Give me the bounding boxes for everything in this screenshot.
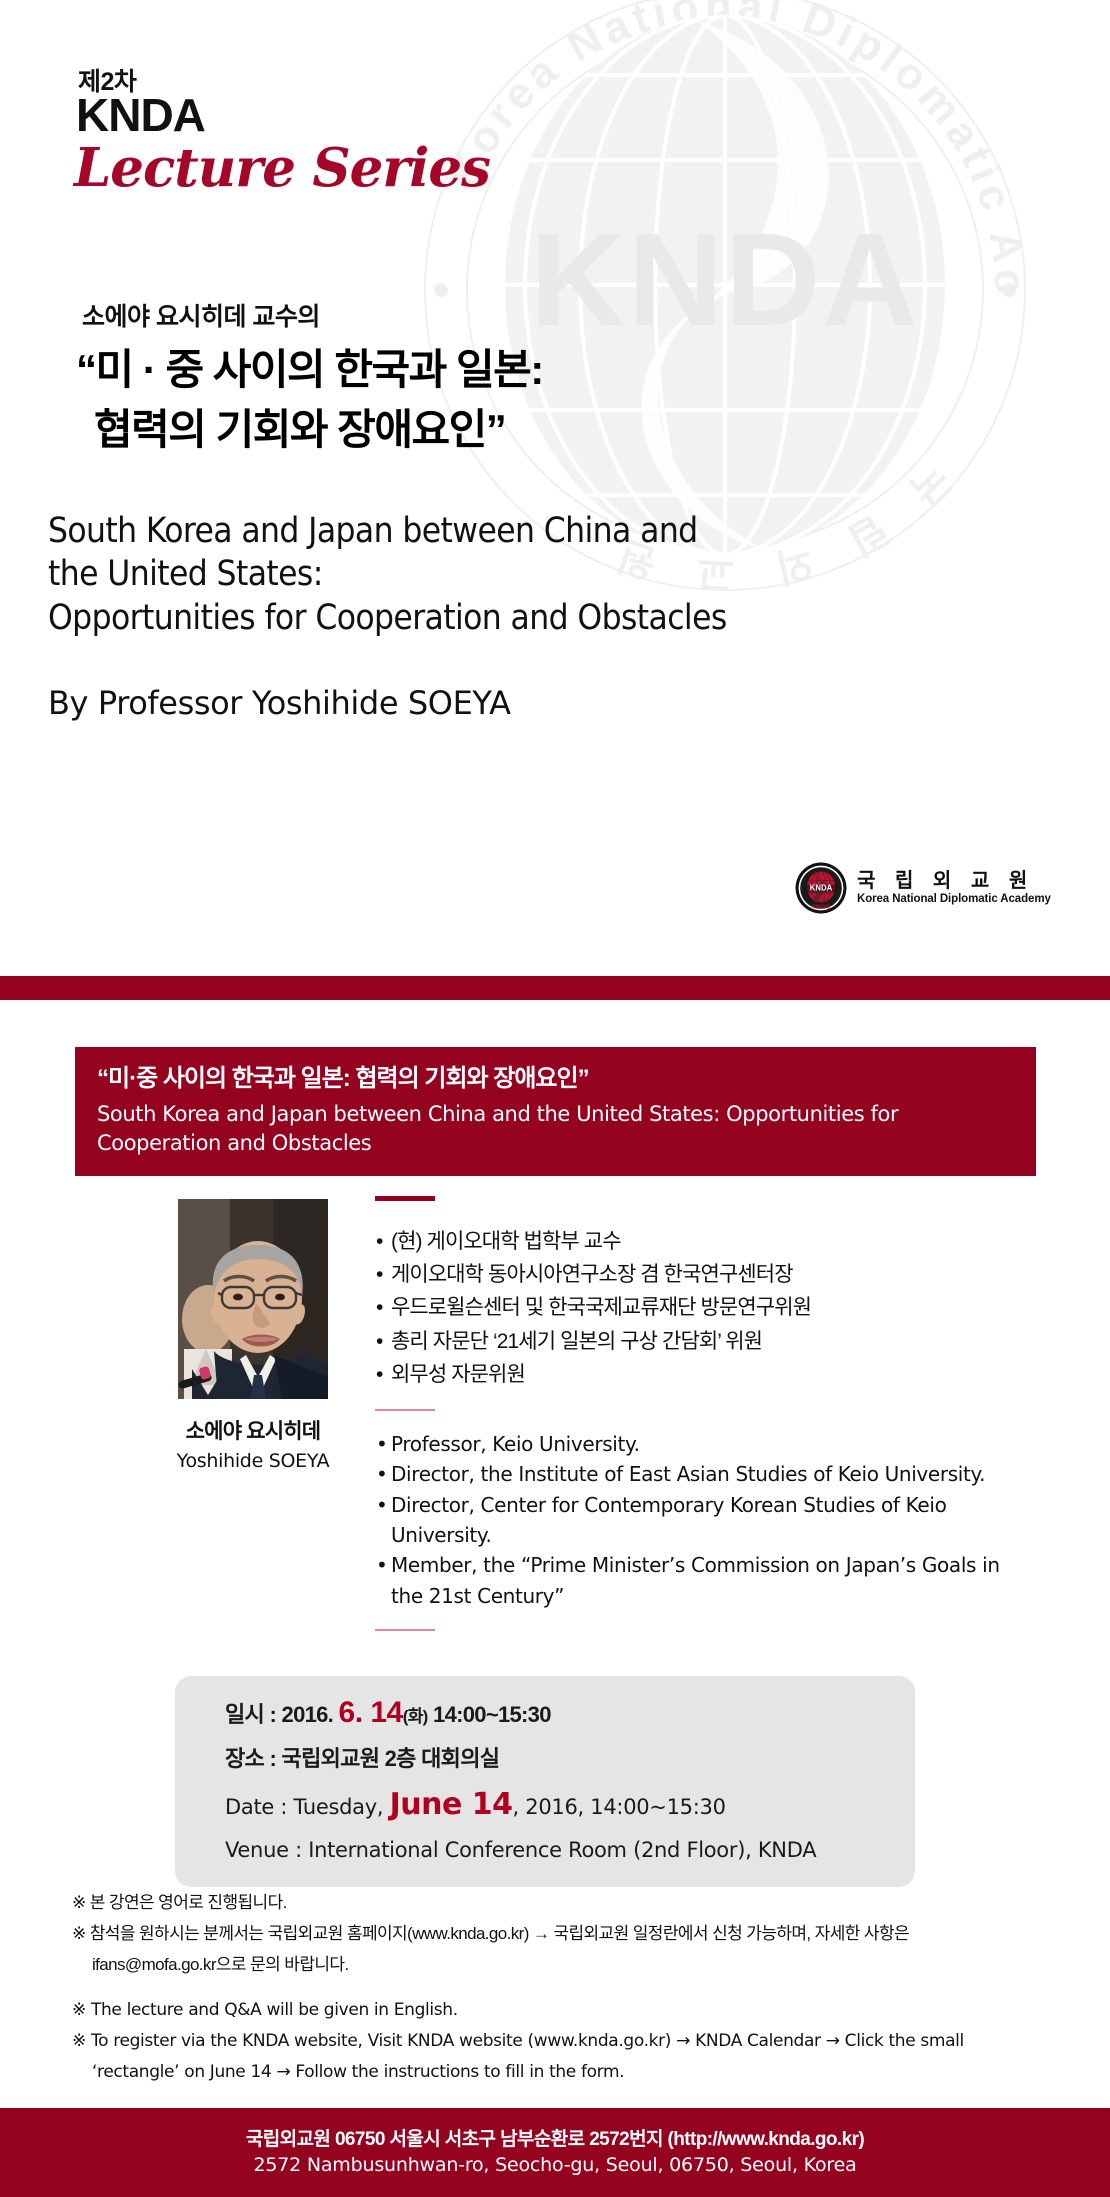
list-item: Director, Center for Contemporary Korean… xyxy=(375,1490,1015,1551)
bio-top-rule xyxy=(375,1196,435,1201)
footer-address-bar: 국립외교원 06750 서울시 서초구 남부순환로 2572번지 (http:/… xyxy=(0,2108,1110,2197)
bio-middle-rule xyxy=(375,1409,435,1411)
event-date-en-highlight: June 14 xyxy=(390,1787,513,1822)
lecture-title-banner: “미·중 사이의 한국과 일본: 협력의 기회와 장애요인” South Kor… xyxy=(75,1047,1036,1176)
event-details-box: 일시 : 2016. 6. 14(화) 14:00~15:30 장소 : 국립외… xyxy=(175,1676,915,1887)
note-kr-1: ※ 본 강연은 영어로 진행됩니다. xyxy=(72,1890,1052,1916)
list-item: 총리 자문단 ‘21세기 일본의 구상 간담회’ 위원 xyxy=(375,1325,1015,1358)
speaker-name-kr: 소에야 요시히데 xyxy=(165,1415,341,1445)
red-divider-band xyxy=(0,976,1110,1000)
svg-text:KNDA: KNDA xyxy=(810,884,833,893)
list-item: 게이오대학 동아시아연구소장 겸 한국연구센터장 xyxy=(375,1258,1015,1291)
bio-list-korean: (현) 게이오대학 법학부 교수 게이오대학 동아시아연구소장 겸 한국연구센터… xyxy=(375,1225,1015,1391)
event-date-en: Date : Tuesday, June 14, 2016, 14:00~15:… xyxy=(225,1790,915,1820)
banner-title-kr: “미·중 사이의 한국과 일본: 협력의 기회와 장애요인” xyxy=(97,1063,1014,1094)
svg-text:국립외교원: 국립외교원 xyxy=(811,903,830,909)
note-en-1: ※ The lecture and Q&A will be given in E… xyxy=(72,1998,1052,2024)
list-item: 외무성 자문위원 xyxy=(375,1358,1015,1391)
list-item: Member, the “Prime Minister’s Commission… xyxy=(375,1550,1015,1611)
note-kr-2: ※ 참석을 원하시는 분께서는 국립외교원 홈페이지(www.knda.go.k… xyxy=(72,1921,1052,1947)
event-venue-en: Venue : International Conference Room (2… xyxy=(225,1840,915,1861)
knda-emblem-icon: KNDA 국립외교원 xyxy=(795,862,847,914)
speaker-name-en: Yoshihide SOEYA xyxy=(165,1450,341,1472)
list-item: Professor, Keio University. xyxy=(375,1429,1015,1459)
footer-address-kr: 국립외교원 06750 서울시 서초구 남부순환로 2572번지 (http:/… xyxy=(246,2130,864,2149)
notes-section: ※ 본 강연은 영어로 진행됩니다. ※ 참석을 원하시는 분께서는 국립외교원… xyxy=(72,1890,1052,2091)
professor-line: 소에야 요시히데 교수의 xyxy=(82,297,320,333)
event-time-kr: 14:00~15:30 xyxy=(433,1702,551,1727)
lecture-series-title: Lecture Series xyxy=(74,137,490,199)
speaker-photo-column: 소에야 요시히데 Yoshihide SOEYA xyxy=(165,1199,341,1472)
english-title-line1: South Korea and Japan between China and xyxy=(48,510,768,553)
list-item: (현) 게이오대학 법학부 교수 xyxy=(375,1225,1015,1258)
korean-title-line2: 협력의 기회와 장애요인” xyxy=(76,400,776,460)
byline: By Professor Yoshihide SOEYA xyxy=(48,684,511,722)
speaker-portrait xyxy=(178,1199,328,1399)
logo-name-en: Korea National Diplomatic Academy xyxy=(857,893,1051,906)
list-item: 우드로윌슨센터 및 한국국제교류재단 방문연구위원 xyxy=(375,1291,1015,1324)
list-item: Director, the Institute of East Asian St… xyxy=(375,1459,1015,1489)
logo-name-kr: 국 립 외 교 원 xyxy=(857,870,1051,892)
korean-title-line1: “미 · 중 사이의 한국과 일본: xyxy=(76,346,543,393)
korean-title: “미 · 중 사이의 한국과 일본: 협력의 기회와 장애요인” xyxy=(76,340,776,459)
footer-address-en: 2572 Nambusunhwan-ro, Seocho-gu, Seoul, … xyxy=(253,2156,856,2175)
event-date-en-rest: , 2016, 14:00~15:30 xyxy=(513,1795,726,1819)
brand-knda: KNDA xyxy=(76,88,205,142)
event-date-kr-weekday: (화) xyxy=(403,1707,428,1726)
bio-bottom-rule xyxy=(375,1629,435,1631)
poster-root: Korea National Diplomatic Academy 국 립 외 … xyxy=(0,0,1110,2197)
notes-spacer xyxy=(72,1982,1052,1998)
hero-section: 제2차 KNDA Lecture Series 소에야 요시히데 교수의 “미 … xyxy=(0,0,1110,976)
note-en-2: ※ To register via the KNDA website, Visi… xyxy=(72,2029,1052,2055)
event-date-kr-highlight: 6. 14 xyxy=(339,1696,403,1729)
event-venue-kr: 장소 : 국립외교원 2층 대회의실 xyxy=(225,1748,915,1770)
note-en-2b: ‘rectangle’ on June 14 → Follow the inst… xyxy=(72,2060,1052,2086)
event-date-kr: 일시 : 2016. 6. 14(화) 14:00~15:30 xyxy=(225,1698,915,1728)
event-date-kr-label: 일시 : 2016. xyxy=(225,1702,333,1727)
english-title-line3: Opportunities for Cooperation and Obstac… xyxy=(48,597,768,640)
english-title: South Korea and Japan between China and … xyxy=(48,510,768,640)
banner-title-en: South Korea and Japan between China and … xyxy=(97,1100,1014,1157)
speaker-bio-column: (현) 게이오대학 법학부 교수 게이오대학 동아시아연구소장 겸 한국연구센터… xyxy=(375,1196,1015,1649)
note-kr-2b: ifans@mofa.go.kr으로 문의 바랍니다. xyxy=(72,1952,1052,1978)
bio-list-english: Professor, Keio University. Director, th… xyxy=(375,1429,1015,1611)
event-date-en-label: Date : Tuesday, xyxy=(225,1795,383,1819)
knda-logo: KNDA 국립외교원 국 립 외 교 원 Korea National Dipl… xyxy=(795,862,1051,914)
english-title-line2: the United States: xyxy=(48,553,768,596)
